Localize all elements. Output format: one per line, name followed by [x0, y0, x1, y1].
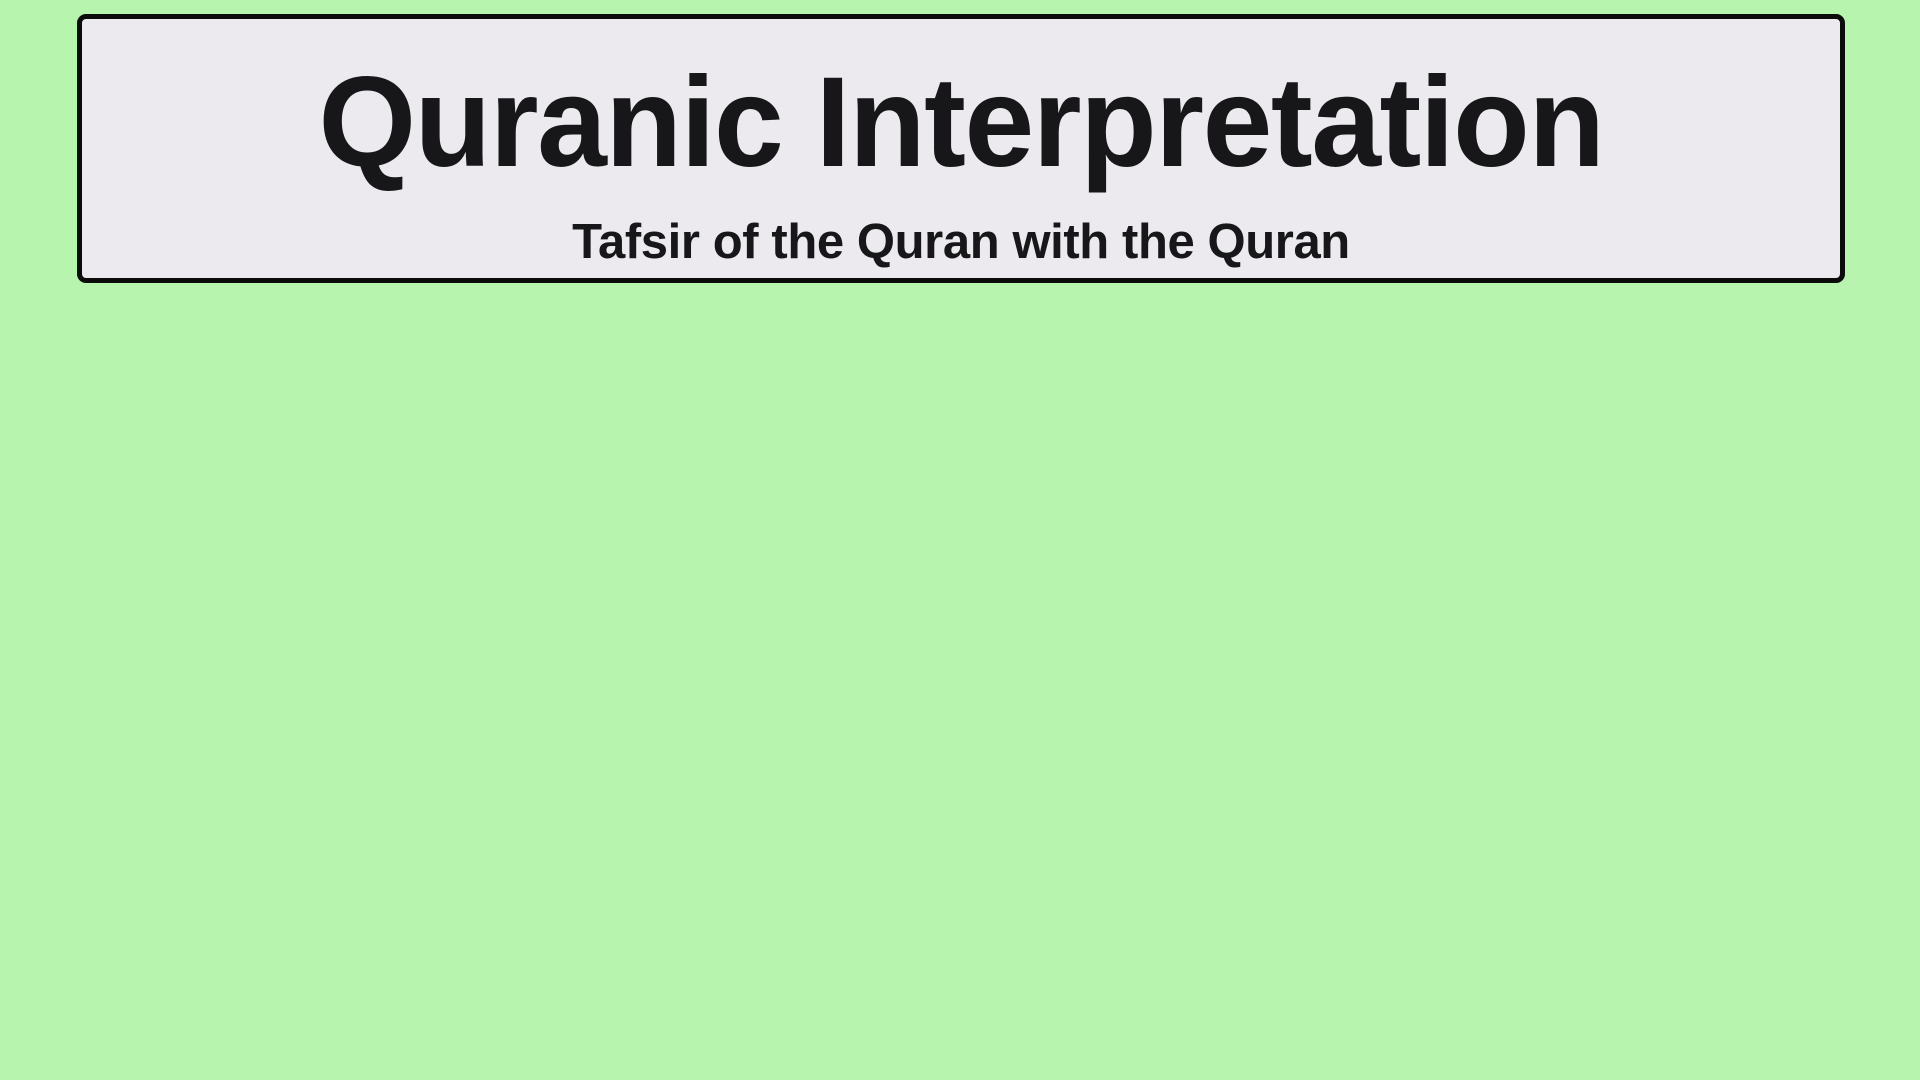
slide-body-region	[0, 283, 1920, 1080]
slide-canvas: Quranic Interpretation Tafsir of the Qur…	[0, 0, 1920, 1080]
header-card: Quranic Interpretation Tafsir of the Qur…	[77, 14, 1845, 283]
page-title: Quranic Interpretation	[100, 19, 1823, 187]
page-subtitle: Tafsir of the Quran with the Quran	[82, 187, 1840, 267]
